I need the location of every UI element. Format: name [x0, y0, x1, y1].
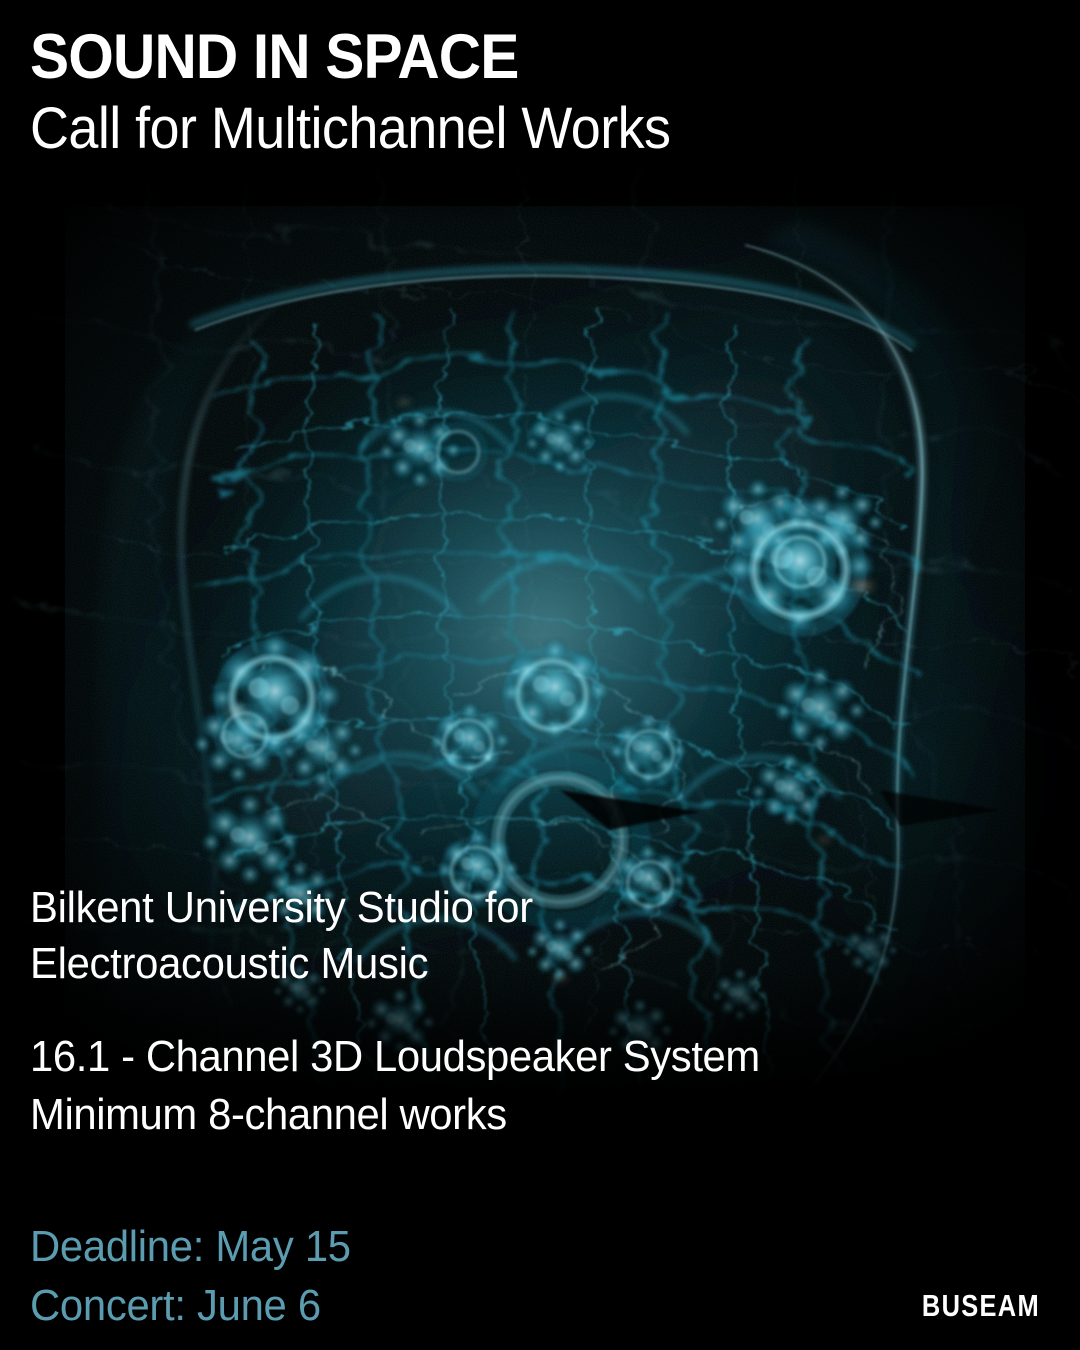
buseam-logo: BUSEAM [922, 1288, 1040, 1324]
page-subtitle: Call for Multichannel Works [30, 100, 670, 158]
organization-line-2: Electroacoustic Music [30, 936, 533, 992]
specs-line-1: 16.1 - Channel 3D Loudspeaker System [30, 1028, 760, 1086]
poster-root: SOUND IN SPACE Call for Multichannel Wor… [0, 0, 1080, 1350]
specs-line-2: Minimum 8-channel works [30, 1086, 760, 1144]
concert-text: Concert: June 6 [30, 1277, 351, 1336]
specs-block: 16.1 - Channel 3D Loudspeaker System Min… [30, 1028, 760, 1144]
dates-block: Deadline: May 15 Concert: June 6 [30, 1218, 351, 1335]
page-title: SOUND IN SPACE [30, 26, 519, 89]
deadline-text: Deadline: May 15 [30, 1218, 351, 1277]
organization-line-1: Bilkent University Studio for [30, 880, 533, 936]
organization-block: Bilkent University Studio for Electroaco… [30, 880, 533, 993]
